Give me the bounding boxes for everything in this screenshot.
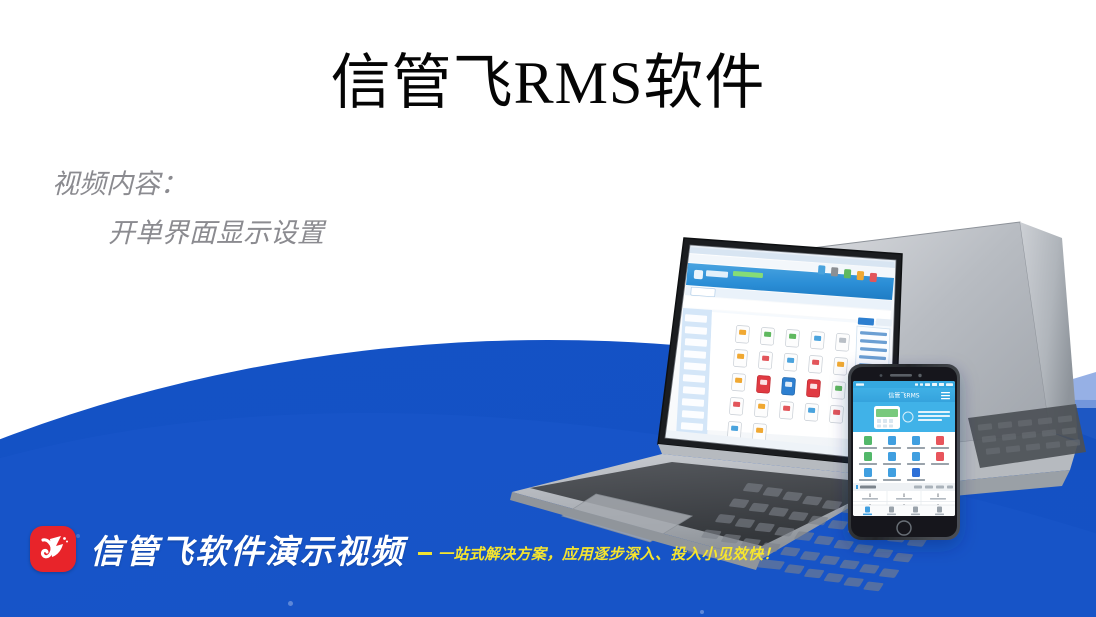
bird-glyph-icon <box>30 526 76 572</box>
brand-banner: 信管飞软件演示视频 <box>30 521 405 577</box>
decor-dot <box>700 610 704 614</box>
tagline-text: 一站式解决方案，应用逐步深入、投入小见效快！ <box>438 543 779 564</box>
decor-dot <box>288 601 293 606</box>
presentation-slide: 信管飞RMS <box>0 0 1096 617</box>
svg-text:0: 0 <box>937 493 940 498</box>
video-content-label: 视频内容： <box>52 169 187 200</box>
brand-name: 信管飞软件演示视频 <box>90 525 405 573</box>
svg-text:0: 0 <box>903 493 906 498</box>
svg-text:0: 0 <box>869 493 872 498</box>
page-title: 信管飞RMS软件 <box>0 46 1096 120</box>
video-content-value: 开单界面显示设置 <box>52 209 324 258</box>
tagline-dash-icon <box>418 552 432 555</box>
smartphone: 信管飞RMS <box>848 364 960 540</box>
tagline-group: 一站式解决方案，应用逐步深入、投入小见效快！ <box>418 543 779 564</box>
video-content-block: 视频内容： 开单界面显示设置 <box>52 160 324 258</box>
phone-app-title: 信管飞RMS <box>888 392 919 400</box>
brand-logo-icon <box>30 526 76 572</box>
